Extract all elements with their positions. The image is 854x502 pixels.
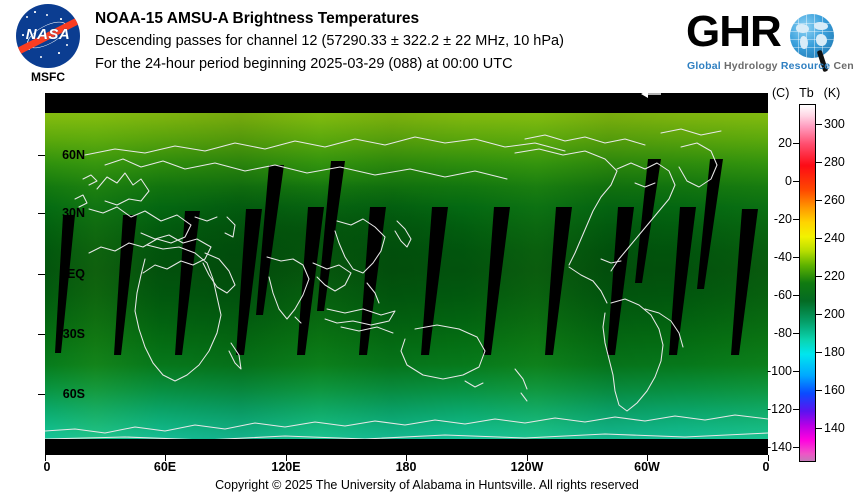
- cb-tick-k-180: [816, 352, 822, 353]
- ghrc-tagline: Global Hydrology Resource Center: [687, 60, 854, 72]
- cb-tick-k-160: [816, 390, 822, 391]
- lat-tick-mark-30s: [38, 334, 45, 335]
- cb-tick-k-140: [816, 428, 822, 429]
- copyright-notice: Copyright © 2025 The University of Alaba…: [0, 478, 854, 492]
- cb-tick-c-60n: [793, 295, 799, 296]
- nasa-center-label: MSFC: [10, 70, 86, 84]
- ghrc-globe-icon: [790, 14, 834, 58]
- lat-tick-mark-60n: [38, 155, 45, 156]
- cb-label-k-280: 280: [824, 155, 845, 169]
- cb-label-c-80n: -80: [774, 326, 792, 340]
- map-plot-area[interactable]: [45, 93, 768, 455]
- cb-label-c-20: 20: [778, 136, 792, 150]
- nasa-wordmark: NASA: [16, 26, 80, 43]
- cb-tick-k-260: [816, 200, 822, 201]
- cb-tick-k-220: [816, 276, 822, 277]
- cb-label-k-240: 240: [824, 231, 845, 245]
- colorbar-variable-label: Tb: [799, 86, 814, 100]
- cb-label-c-60n: -60: [774, 288, 792, 302]
- colorbar-gradient[interactable]: [799, 104, 816, 462]
- page-title: NOAA-15 AMSU-A Brightness Temperatures: [95, 8, 675, 30]
- lon-label-120e: 120E: [271, 460, 300, 474]
- cb-label-k-160: 160: [824, 383, 845, 397]
- cb-tick-c-100n: [793, 371, 799, 372]
- lat-tick-mark-eq: [38, 274, 45, 275]
- cb-tick-c-20: [793, 143, 799, 144]
- cb-label-c-0: 0: [785, 174, 792, 188]
- cb-label-c-140n: -140: [767, 440, 792, 454]
- title-block: NOAA-15 AMSU-A Brightness Temperatures D…: [95, 8, 675, 76]
- lat-label-eq: EQ: [67, 267, 85, 281]
- cb-label-c-20n: -20: [774, 212, 792, 226]
- cb-tick-c-120n: [793, 409, 799, 410]
- ghrc-logo: GHR Global Hydrology Resource Center: [686, 6, 846, 80]
- lat-label-30s: 30S: [63, 327, 85, 341]
- lon-label-120w: 120W: [511, 460, 544, 474]
- ghrc-tagline-word-4: Center: [833, 60, 854, 72]
- title-subtitle-channel: Descending passes for channel 12 (57290.…: [95, 30, 675, 53]
- lat-label-30n: 30N: [62, 206, 85, 220]
- cb-label-c-100n: -100: [767, 364, 792, 378]
- cb-tick-c-20n: [793, 219, 799, 220]
- lon-label-60e: 60E: [154, 460, 176, 474]
- map-top-nodata-band: [45, 103, 768, 113]
- ghrc-tagline-word-2: Hydrology: [724, 60, 778, 72]
- cb-label-k-260: 260: [824, 193, 845, 207]
- colorbar-unit-kelvin: (K): [824, 86, 841, 100]
- lat-label-60n: 60N: [62, 148, 85, 162]
- cb-tick-c-80n: [793, 333, 799, 334]
- cb-label-k-200: 200: [824, 307, 845, 321]
- coastline-overlay: [45, 113, 768, 439]
- cb-tick-c-40n: [793, 257, 799, 258]
- cb-tick-k-280: [816, 162, 822, 163]
- cb-label-k-140: 140: [824, 421, 845, 435]
- lon-label-360: 0: [763, 460, 770, 474]
- ghrc-wordmark: GHR: [686, 6, 781, 58]
- colorbar-header: (C) Tb (K): [772, 86, 840, 100]
- cb-label-c-40n: -40: [774, 250, 792, 264]
- cb-label-k-220: 220: [824, 269, 845, 283]
- cb-label-c-120n: -120: [767, 402, 792, 416]
- nasa-msfc-logo: NASA MSFC: [10, 4, 86, 86]
- ghrc-tagline-word-1: Global: [687, 60, 721, 72]
- cb-tick-k-300: [816, 124, 822, 125]
- cb-label-k-180: 180: [824, 345, 845, 359]
- cb-tick-k-240: [816, 238, 822, 239]
- lon-label-180: 180: [396, 460, 417, 474]
- ghrc-tagline-word-3: Resource: [781, 60, 830, 72]
- lat-tick-mark-30n: [38, 213, 45, 214]
- cursor-arrow-icon: [640, 88, 662, 100]
- lon-label-0: 0: [44, 460, 51, 474]
- lat-label-60s: 60S: [63, 387, 85, 401]
- nasa-meatball-icon: NASA: [16, 4, 80, 68]
- colorbar-unit-celsius: (C): [772, 86, 789, 100]
- cb-label-k-300: 300: [824, 117, 845, 131]
- lon-label-60w: 60W: [634, 460, 660, 474]
- title-subtitle-period: For the 24-hour period beginning 2025-03…: [95, 53, 675, 76]
- lat-tick-mark-60s: [38, 394, 45, 395]
- cb-tick-k-200: [816, 314, 822, 315]
- brightness-temperature-map[interactable]: [45, 103, 768, 439]
- cb-tick-c-140n: [793, 447, 799, 448]
- header: NASA MSFC NOAA-15 AMSU-A Brightness Temp…: [0, 0, 854, 90]
- cb-tick-c-0: [793, 181, 799, 182]
